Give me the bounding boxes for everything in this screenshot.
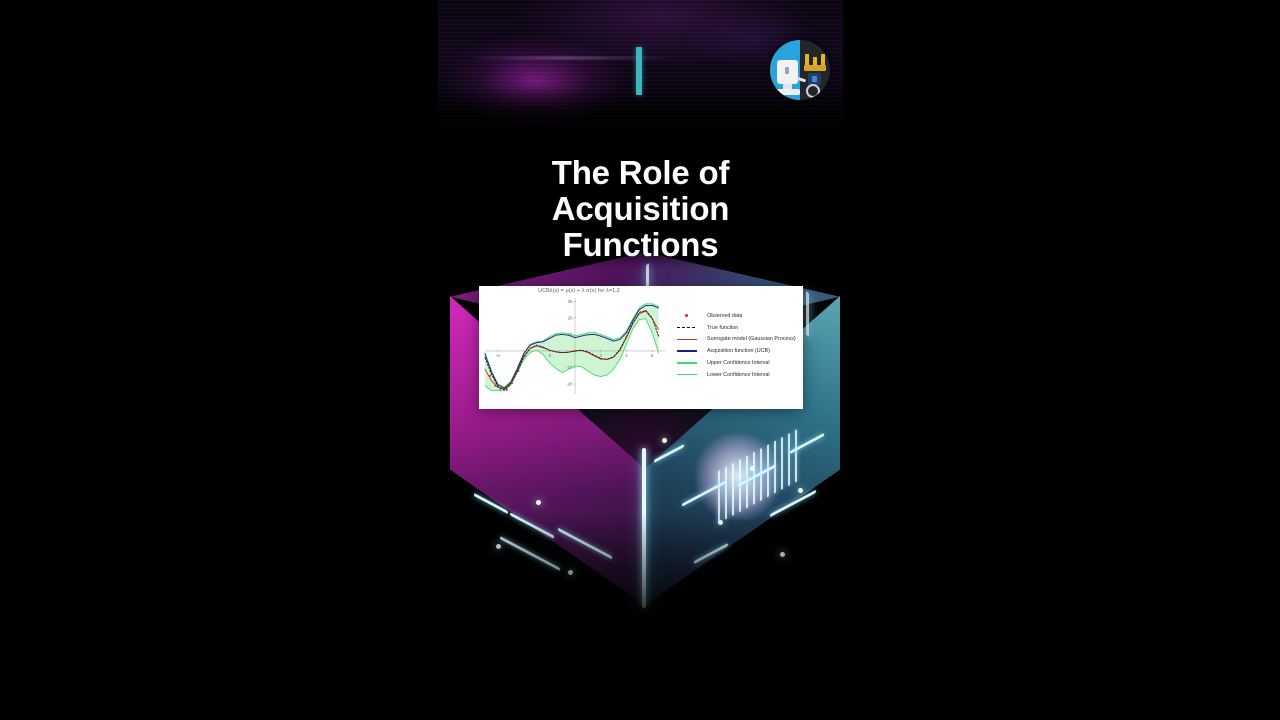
title-line-2: Acquisition <box>438 191 843 227</box>
led-dot <box>568 570 573 575</box>
legend-swatch-icon <box>675 359 699 367</box>
svg-text:4: 4 <box>625 353 628 358</box>
acquisition-function-chart: UCBλ(x) = μ(x) + λ σ(x) for λ=1.2 -6-4-2… <box>479 286 803 409</box>
legend-item: True function <box>675 322 803 334</box>
legend-swatch-icon <box>675 324 699 332</box>
magnifier-icon <box>806 84 820 98</box>
crown-icon <box>805 53 825 65</box>
led-dot <box>750 466 755 471</box>
legend-label: Lower Confidence Interval <box>707 372 770 378</box>
legend-label: Acquisition function (UCB) <box>707 348 770 354</box>
svg-text:-20: -20 <box>566 382 573 387</box>
legend-item: Lower Confidence Interval <box>675 369 803 381</box>
video-content-area: The Role of Acquisition Functions UCBλ(x… <box>438 0 843 720</box>
legend-swatch-icon <box>675 371 699 379</box>
chart-plot-area: -6-4-2246302010-10-20 <box>479 294 675 406</box>
legend-item: Upper Confidence Interval <box>675 357 803 369</box>
svg-text:20: 20 <box>568 315 573 320</box>
led-dot <box>496 544 501 549</box>
chart-legend: Observed dataTrue functionSurrogate mode… <box>675 310 803 381</box>
led-dot <box>662 438 667 443</box>
cube-vertical-edge-light <box>642 448 646 608</box>
legend-item: Observed data <box>675 310 803 322</box>
video-bottom-fade <box>438 634 843 720</box>
legend-item: Acquisition function (UCB) <box>675 345 803 357</box>
legend-label: Surrogate model (Gaussian Process) <box>707 336 796 342</box>
title-line-1: The Role of <box>438 155 843 191</box>
legend-swatch-icon <box>675 347 699 355</box>
led-dot <box>780 552 785 557</box>
legend-swatch-icon <box>675 335 699 343</box>
cube-top-edge-light-right <box>806 291 809 337</box>
circuit-trace <box>500 536 560 571</box>
title-line-3: Functions <box>438 227 843 263</box>
legend-item: Surrogate model (Gaussian Process) <box>675 334 803 346</box>
led-dot <box>718 520 723 525</box>
robot-base-icon <box>776 89 800 95</box>
channel-avatar[interactable] <box>770 40 830 100</box>
legend-swatch-icon <box>675 312 699 320</box>
cyan-cursor-bar <box>636 47 642 95</box>
page-title: The Role of Acquisition Functions <box>438 155 843 263</box>
svg-text:-2: -2 <box>547 353 551 358</box>
legend-label: Upper Confidence Interval <box>707 360 770 366</box>
screen-root: The Role of Acquisition Functions UCBλ(x… <box>0 0 1280 720</box>
svg-text:30: 30 <box>568 299 573 304</box>
crown-band-icon <box>804 65 826 71</box>
light-streak <box>470 57 673 59</box>
led-dot <box>536 500 541 505</box>
svg-text:6: 6 <box>651 353 654 358</box>
led-dot <box>798 488 803 493</box>
legend-label: Observed data <box>707 313 742 319</box>
legend-label: True function <box>707 325 738 331</box>
svg-text:-6: -6 <box>496 353 500 358</box>
robot-eye-icon <box>785 67 789 74</box>
